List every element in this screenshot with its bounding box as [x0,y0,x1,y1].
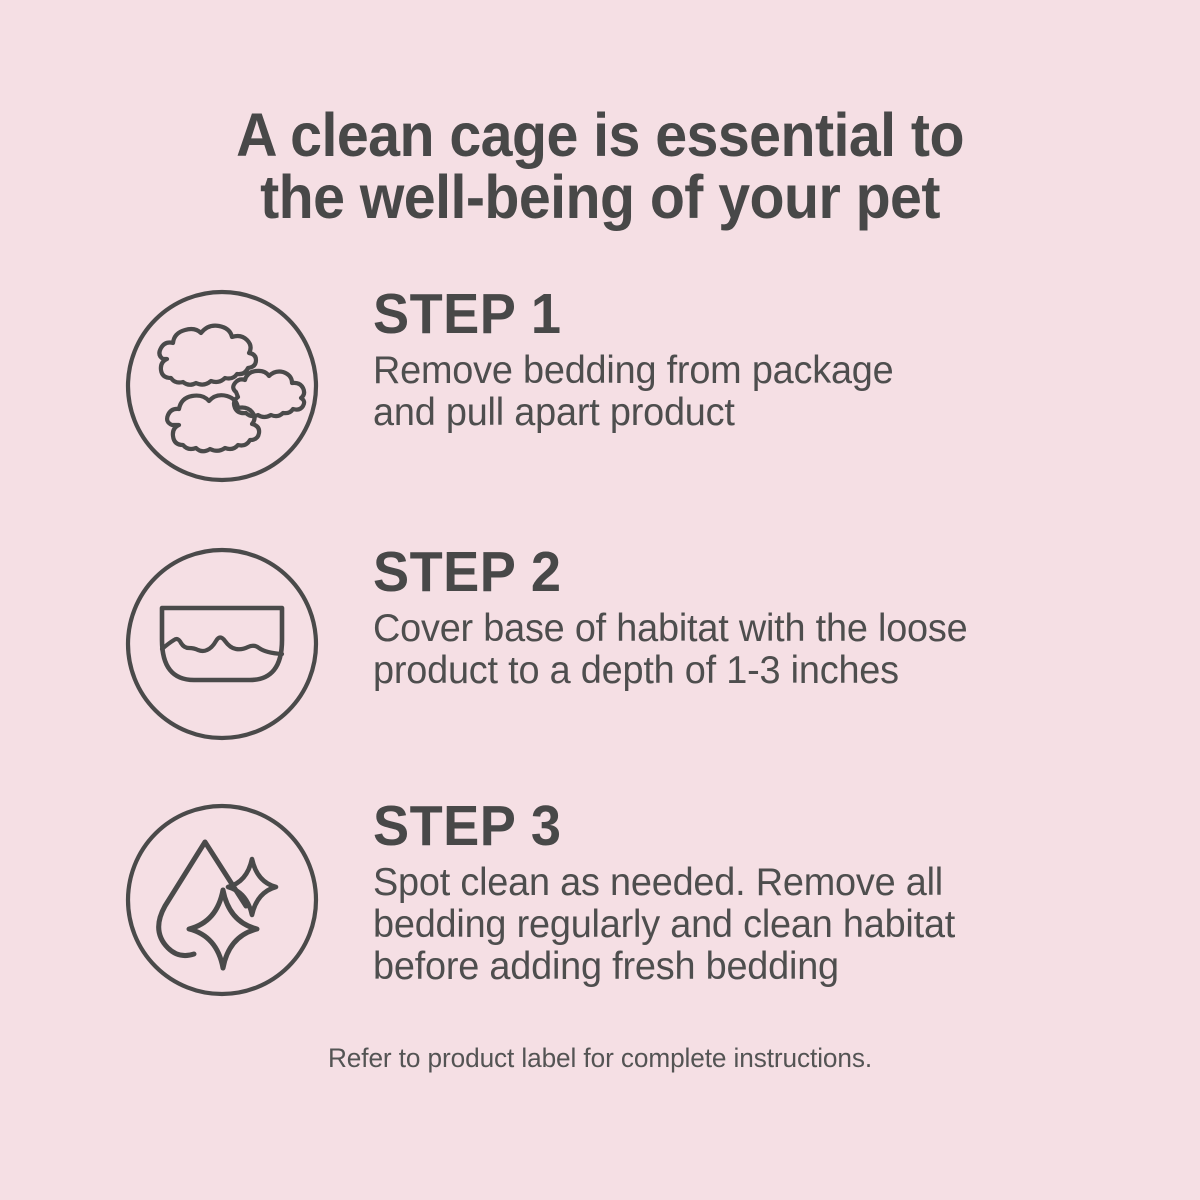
step-1-body: Remove bedding from package and pull apa… [373,350,1091,434]
habitat-base-icon [124,546,320,742]
step-item-2: STEP 2 Cover base of habitat with the lo… [0,540,1200,766]
step-2-body: Cover base of habitat with the loose pro… [373,608,1091,692]
step-item-1: STEP 1 Remove bedding from package and p… [0,282,1200,510]
step-3-heading: STEP 3 [373,796,1076,856]
droplet-sparkle-icon [124,802,320,998]
step-3-text-block: STEP 3 Spot clean as needed. Remove all … [373,796,1113,988]
page-title: A clean cage is essential to the well-be… [130,104,1070,228]
step-1-heading: STEP 1 [373,284,1076,344]
bedding-clouds-icon [124,288,320,484]
step-3-body: Spot clean as needed. Remove all bedding… [373,862,1091,988]
footer-note: Refer to product label for complete inst… [115,1042,1085,1074]
steps-list: STEP 1 Remove bedding from package and p… [0,282,1200,1056]
step-2-heading: STEP 2 [373,542,1076,602]
instruction-poster: A clean cage is essential to the well-be… [0,0,1200,1200]
step-1-text-block: STEP 1 Remove bedding from package and p… [373,284,1113,434]
step-item-3: STEP 3 Spot clean as needed. Remove all … [0,796,1200,1026]
step-2-text-block: STEP 2 Cover base of habitat with the lo… [373,542,1113,692]
